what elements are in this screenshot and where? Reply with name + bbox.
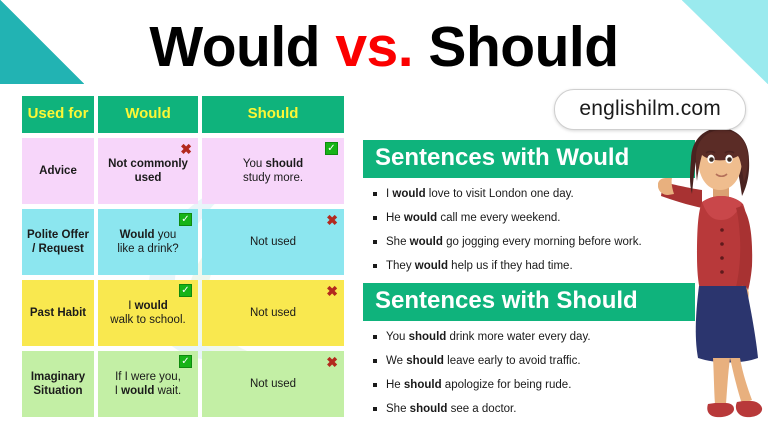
website-badge-label: englishilm.com xyxy=(579,97,721,120)
panel-sentences-with-would: Sentences with Would I would love to vis… xyxy=(363,140,695,283)
list-item: He would call me every weekend. xyxy=(373,211,695,225)
table-row: Past Habit ✓ I wouldwalk to school. ✖ No… xyxy=(22,280,346,346)
title-word-should: Should xyxy=(428,15,618,79)
cross-icon: ✖ xyxy=(180,142,192,156)
check-icon: ✓ xyxy=(325,142,338,155)
cell-text: Not used xyxy=(250,235,296,250)
table-header-should: Should xyxy=(202,96,344,133)
row-label-past-habit: Past Habit xyxy=(22,280,94,346)
row-label-polite-offer: Polite Offer / Request xyxy=(22,209,94,275)
panel-sentences-with-should: Sentences with Should You should drink m… xyxy=(363,283,695,426)
list-item: She would go jogging every morning befor… xyxy=(373,235,695,249)
cell-text: You should study more. xyxy=(243,157,303,186)
title-word-would: Would xyxy=(149,15,320,79)
cell-text: Would youlike a drink? xyxy=(117,228,178,257)
list-item: I would love to visit London one day. xyxy=(373,187,695,201)
cell-text: Not used xyxy=(250,306,296,321)
sentence-list-should: You should drink more water every day. W… xyxy=(373,330,695,416)
row-label-advice: Advice xyxy=(22,138,94,204)
cell-should-polite-offer: ✖ Not used xyxy=(202,209,344,275)
cell-text: If I were you,I would wait. xyxy=(115,370,181,399)
cell-text: Not used xyxy=(250,377,296,392)
cell-text: Not commonlyused xyxy=(108,157,188,186)
page-title: Would vs. Should xyxy=(0,12,768,82)
banner-would: Sentences with Would xyxy=(363,140,695,178)
cell-would-polite-offer: ✓ Would youlike a drink? xyxy=(98,209,198,275)
cross-icon: ✖ xyxy=(326,355,338,369)
check-icon: ✓ xyxy=(179,284,192,297)
table-row: ImaginarySituation ✓ If I were you,I wou… xyxy=(22,351,346,417)
list-item: We should leave early to avoid traffic. xyxy=(373,354,695,368)
cross-icon: ✖ xyxy=(326,213,338,227)
cell-would-past-habit: ✓ I wouldwalk to school. xyxy=(98,280,198,346)
comparison-table: Used for Would Should Advice ✖ Not commo… xyxy=(22,96,346,422)
check-icon: ✓ xyxy=(179,213,192,226)
row-label-imaginary-situation: ImaginarySituation xyxy=(22,351,94,417)
cell-would-advice: ✖ Not commonlyused xyxy=(98,138,198,204)
sentence-list-would: I would love to visit London one day. He… xyxy=(373,187,695,273)
list-item: They would help us if they had time. xyxy=(373,259,695,273)
website-badge[interactable]: englishilm.com xyxy=(554,89,746,130)
table-row: Polite Offer / Request ✓ Would youlike a… xyxy=(22,209,346,275)
list-item: He should apologize for being rude. xyxy=(373,378,695,392)
cell-text: I wouldwalk to school. xyxy=(110,299,185,328)
cell-would-imaginary-situation: ✓ If I were you,I would wait. xyxy=(98,351,198,417)
table-header-row: Used for Would Should xyxy=(22,96,346,133)
cell-should-advice: ✓ You should study more. xyxy=(202,138,344,204)
title-word-vs: vs. xyxy=(335,15,413,79)
check-icon: ✓ xyxy=(179,355,192,368)
list-item: You should drink more water every day. xyxy=(373,330,695,344)
cross-icon: ✖ xyxy=(326,284,338,298)
cell-should-imaginary-situation: ✖ Not used xyxy=(202,351,344,417)
cell-should-past-habit: ✖ Not used xyxy=(202,280,344,346)
list-item: She should see a doctor. xyxy=(373,402,695,416)
table-header-would: Would xyxy=(98,96,198,133)
teacher-illustration xyxy=(658,126,766,432)
table-header-used-for: Used for xyxy=(22,96,94,133)
banner-should: Sentences with Should xyxy=(363,283,695,321)
table-row: Advice ✖ Not commonlyused ✓ You should s… xyxy=(22,138,346,204)
